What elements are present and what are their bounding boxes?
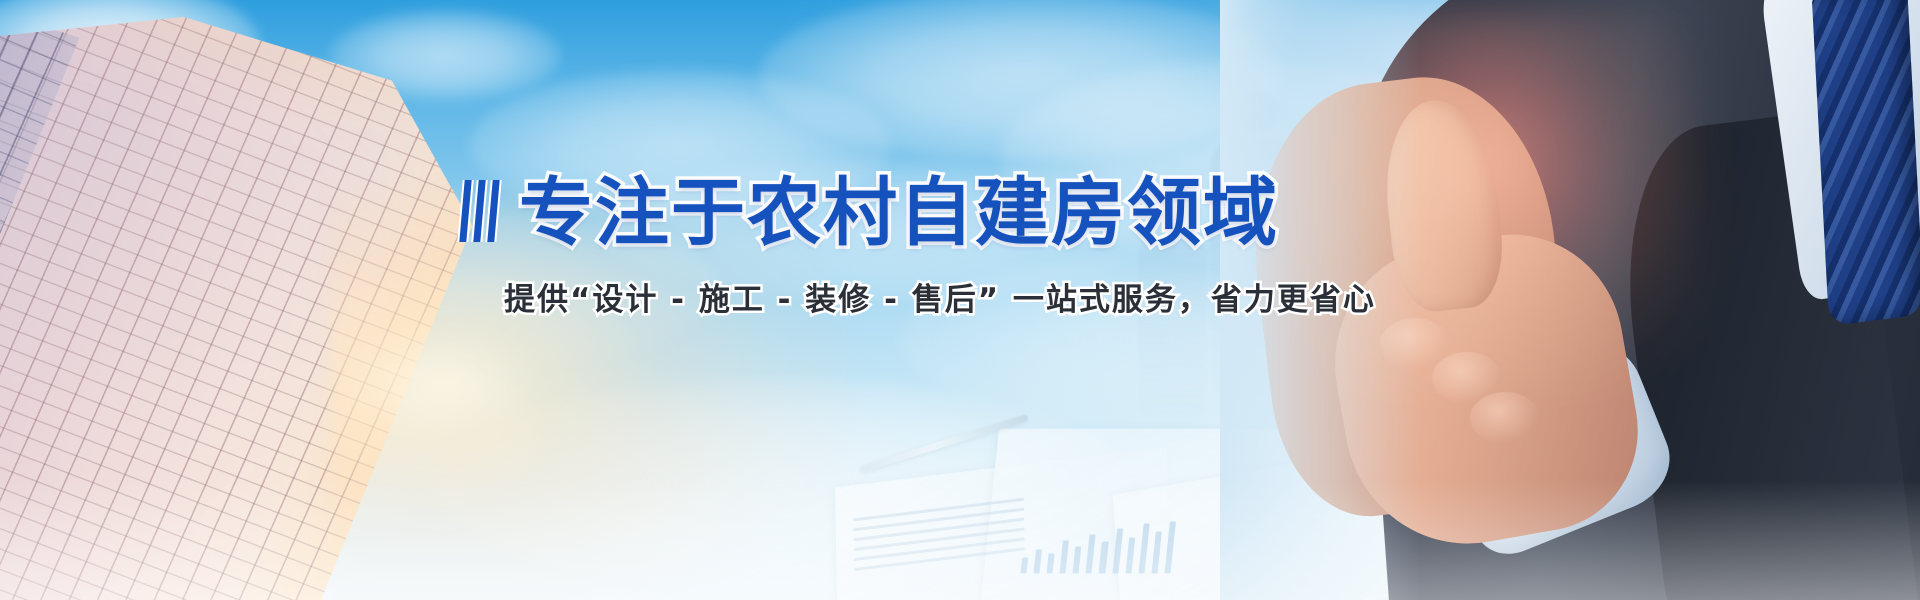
chart-bar (1060, 540, 1070, 573)
triple-bar-accent-icon (462, 180, 497, 242)
banner-headline: 专注于农村自建房领域 (519, 176, 1279, 250)
chart-bar (1099, 542, 1108, 574)
mini-bar-chart (1020, 501, 1178, 573)
chart-bar (1073, 546, 1082, 573)
banner-text-block: 专注于农村自建房领域 提供“设计 - 施工 - 装修 - 售后” 一站式服务，省… (462, 176, 1462, 319)
tower-right-face (0, 0, 516, 600)
chart-bar (1138, 523, 1149, 573)
chart-bar (1086, 535, 1096, 574)
chart-bar (1151, 532, 1161, 574)
knuckle-highlight (1470, 392, 1540, 444)
chart-bar (1125, 537, 1135, 573)
hero-banner: 专注于农村自建房领域 提供“设计 - 施工 - 装修 - 售后” 一站式服务，省… (0, 0, 1920, 600)
striped-necktie (1812, 0, 1920, 326)
chart-bar (1112, 529, 1123, 574)
chart-bar (1020, 558, 1028, 574)
tower-mullions-horizontal (0, 0, 516, 600)
banner-subtitle: 提供“设计 - 施工 - 装修 - 售后” 一站式服务，省力更省心 (504, 274, 1462, 319)
headline-row: 专注于农村自建房领域 (462, 176, 1462, 250)
chart-bar (1034, 549, 1043, 573)
chart-bar (1047, 553, 1055, 573)
